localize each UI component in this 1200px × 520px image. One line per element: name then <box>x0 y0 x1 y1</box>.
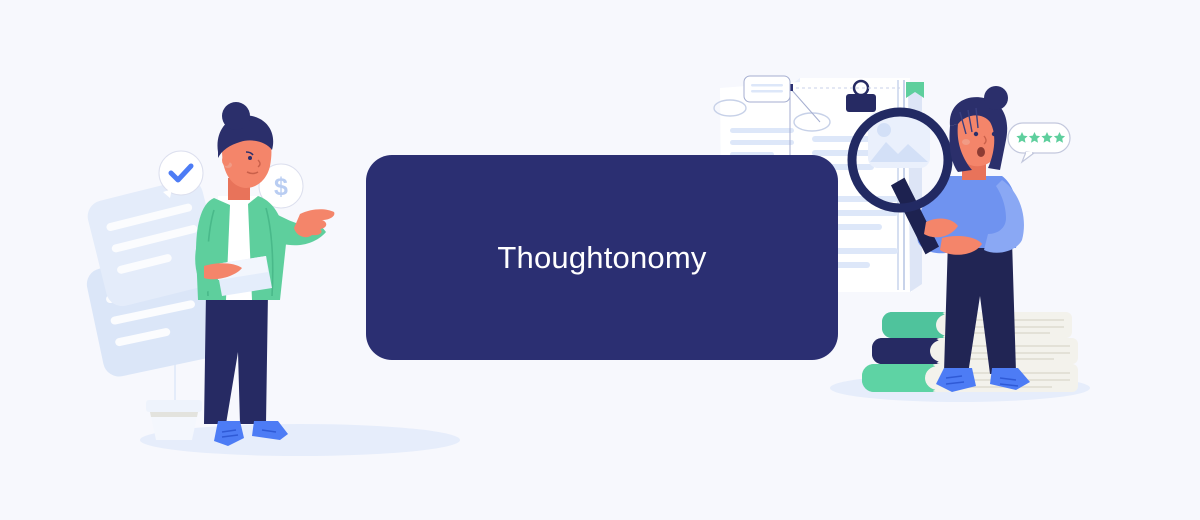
screenshot-stage: $ <box>0 0 1200 520</box>
title-card[interactable]: Thoughtonomy <box>366 155 838 360</box>
book-top <box>882 312 1072 338</box>
dollar-icon: $ <box>274 173 288 201</box>
hair-bun-right-figure <box>984 86 1008 110</box>
hair-bun <box>222 102 250 130</box>
page-title: Thoughtonomy <box>497 240 706 276</box>
clipboard-clip <box>846 94 876 112</box>
tooltip-box <box>744 76 790 102</box>
book-middle <box>872 338 1078 364</box>
